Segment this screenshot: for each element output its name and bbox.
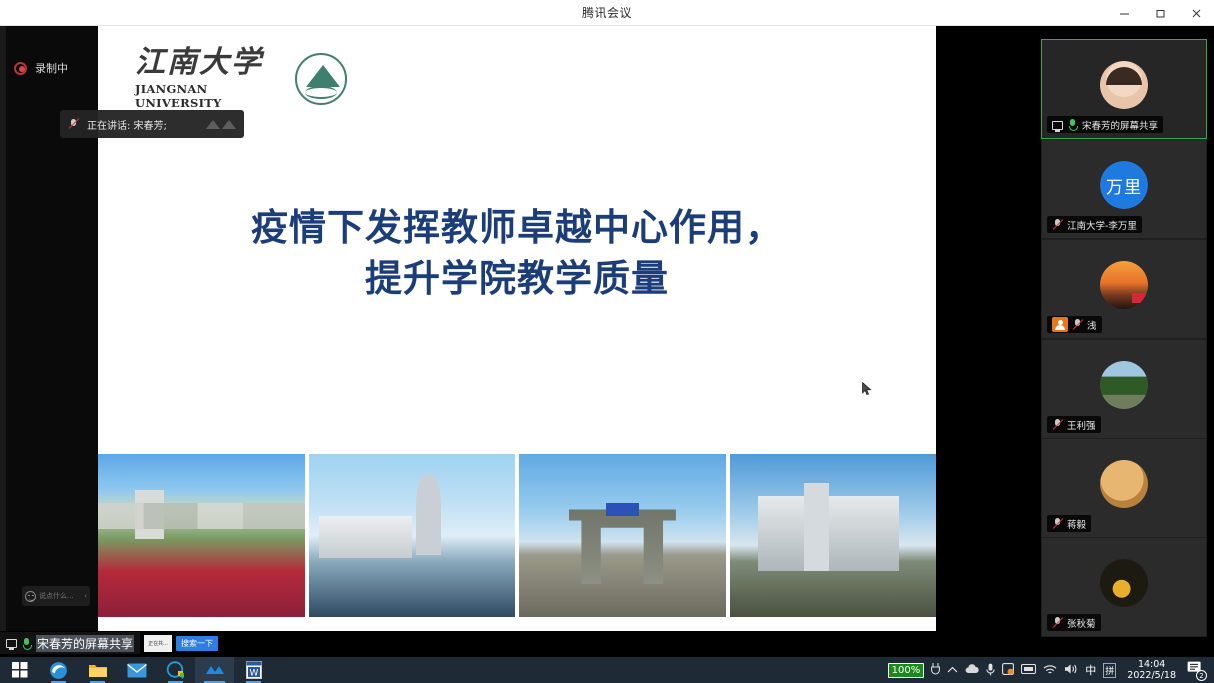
participant-tile-3[interactable]: 浅 (1041, 239, 1207, 339)
participant-name: 蒋毅 (1067, 517, 1086, 531)
campus-photo-2 (309, 454, 516, 617)
mic-off-icon (68, 119, 79, 130)
avatar (1100, 559, 1148, 607)
screen-share-icon (1052, 121, 1063, 130)
audio-wave-icon (206, 120, 236, 129)
tencent-meeting-app-icon[interactable] (195, 657, 234, 683)
slide-title-line-2: 提升学院教学质量 (98, 253, 936, 304)
avatar-initials: 万里 (1100, 161, 1148, 209)
window-title: 腾讯会议 (582, 4, 632, 21)
participant-tile-1[interactable]: 宋春芳的屏幕共享 (1041, 39, 1207, 139)
avatar (1100, 460, 1148, 508)
qq-app-icon[interactable] (156, 657, 195, 683)
mic-off-icon (1072, 319, 1083, 330)
notification-badge-count: 2 (1196, 670, 1207, 681)
campus-photo-1 (98, 454, 305, 617)
microphone-icon[interactable] (986, 663, 995, 678)
campus-photo-3 (519, 454, 726, 617)
avatar (1100, 61, 1148, 109)
slide-title-line-1: 疫情下发挥教师卓越中心作用， (251, 206, 783, 249)
display-settings-icon[interactable] (1002, 663, 1014, 677)
taskbar-clock[interactable]: 14:04 2022/5/18 (1123, 659, 1180, 681)
speaking-toast-text: 正在讲话: 宋春芳; (87, 117, 167, 132)
chat-placeholder: 说点什么... (39, 591, 81, 601)
avatar (1100, 361, 1148, 409)
participant-name: 浅 (1087, 318, 1097, 332)
university-emblem-icon (295, 53, 347, 105)
mic-on-icon (21, 638, 32, 649)
logo-chinese-name: 江南大学 (135, 48, 287, 78)
campus-photo-4 (730, 454, 937, 617)
participant-namebar: 江南大学-李万里 (1047, 216, 1142, 233)
participant-namebar: 浅 (1047, 316, 1102, 333)
share-status-chip[interactable]: 宋春芳的屏幕共享 (0, 632, 140, 654)
participant-tile-2[interactable]: 万里 江南大学-李万里 (1041, 139, 1207, 239)
minimize-button[interactable] (1106, 0, 1142, 26)
slide-title: 疫情下发挥教师卓越中心作用， 提升学院教学质量 (98, 202, 936, 304)
chat-input-bar[interactable]: 说点什么... ‹ (22, 586, 90, 606)
campus-photo-strip (98, 454, 936, 617)
svg-text:W: W (249, 669, 258, 679)
avatar (1100, 261, 1148, 309)
participant-tile-4[interactable]: 王利强 (1041, 339, 1207, 439)
mic-off-icon (1052, 219, 1063, 230)
chevron-up-icon[interactable] (947, 665, 958, 676)
participant-rail[interactable]: 宋春芳的屏幕共享 万里 江南大学-李万里 浅 (936, 26, 1214, 657)
host-icon (1052, 317, 1068, 332)
window-titlebar: 腾讯会议 (0, 0, 1214, 26)
avatar: 万里 (1100, 161, 1148, 209)
start-button[interactable] (0, 657, 39, 683)
ime-pinyin-mode[interactable]: 拼 (1103, 663, 1116, 678)
taskbar-icons: W (0, 657, 273, 683)
mic-on-icon (1067, 119, 1078, 130)
search-suggestion-chip[interactable]: 搜索一下 (176, 636, 218, 651)
mic-off-icon (1052, 617, 1063, 628)
screen-share-icon (6, 639, 17, 648)
cloud-icon[interactable] (965, 664, 979, 676)
notification-center-icon[interactable]: 2 (1187, 661, 1206, 679)
tencent-meeting-window: 腾讯会议 录制中 说点什么... ‹ 江南大学 (0, 0, 1214, 683)
clock-date: 2022/5/18 (1127, 670, 1176, 681)
speaking-toast: 正在讲话: 宋春芳; (60, 110, 244, 138)
file-explorer-icon[interactable] (78, 657, 117, 683)
participant-name: 张秋菊 (1067, 616, 1096, 630)
rail-edge (0, 26, 6, 631)
logo-english-name: JIANGNAN UNIVERSITY (135, 82, 287, 110)
record-dot-icon (14, 62, 27, 75)
participant-name: 王利强 (1067, 418, 1096, 432)
close-button[interactable] (1178, 0, 1214, 26)
window-controls (1106, 0, 1214, 26)
system-tray: 100% 中 (888, 657, 1214, 683)
mail-app-icon[interactable] (117, 657, 156, 683)
volume-icon[interactable] (1064, 663, 1078, 677)
participant-name: 江南大学-李万里 (1067, 218, 1137, 232)
ime-language-indicator[interactable]: 中 (1085, 662, 1096, 678)
battery-percent-badge[interactable]: 100% (888, 663, 925, 678)
mic-off-icon (1052, 518, 1063, 529)
emoji-icon[interactable] (25, 591, 36, 602)
wifi-icon[interactable] (1043, 664, 1057, 677)
edge-browser-icon[interactable] (39, 657, 78, 683)
university-logo: 江南大学 JIANGNAN UNIVERSITY (135, 48, 347, 110)
recording-label: 录制中 (35, 60, 68, 76)
participant-namebar: 宋春芳的屏幕共享 (1047, 116, 1163, 133)
power-plug-icon[interactable] (931, 663, 940, 678)
participant-namebar: 王利强 (1047, 416, 1101, 433)
clock-time: 14:04 (1127, 659, 1176, 670)
maximize-button[interactable] (1142, 0, 1178, 26)
mic-off-icon (1052, 419, 1063, 430)
participant-tile-6[interactable]: 张秋菊 (1041, 537, 1207, 637)
participant-namebar: 蒋毅 (1047, 515, 1091, 532)
recording-indicator[interactable]: 录制中 (14, 60, 68, 76)
chevron-left-icon[interactable]: ‹ (84, 592, 87, 600)
participant-namebar: 张秋菊 (1047, 614, 1101, 631)
share-status-text: 宋春芳的屏幕共享 (36, 635, 134, 652)
shared-window-thumbnail[interactable]: 正在共... (144, 635, 172, 652)
participant-name: 宋春芳的屏幕共享 (1082, 118, 1158, 132)
keyboard-icon[interactable] (1021, 664, 1036, 676)
mouse-cursor (862, 381, 872, 395)
screen-share-bar[interactable]: 宋春芳的屏幕共享 正在共... 搜索一下 (0, 632, 218, 654)
participant-list: 宋春芳的屏幕共享 万里 江南大学-李万里 浅 (936, 26, 1214, 657)
participant-tile-5[interactable]: 蒋毅 (1041, 438, 1207, 538)
word-app-icon[interactable]: W (234, 657, 273, 683)
windows-taskbar: W 100% (0, 657, 1214, 683)
